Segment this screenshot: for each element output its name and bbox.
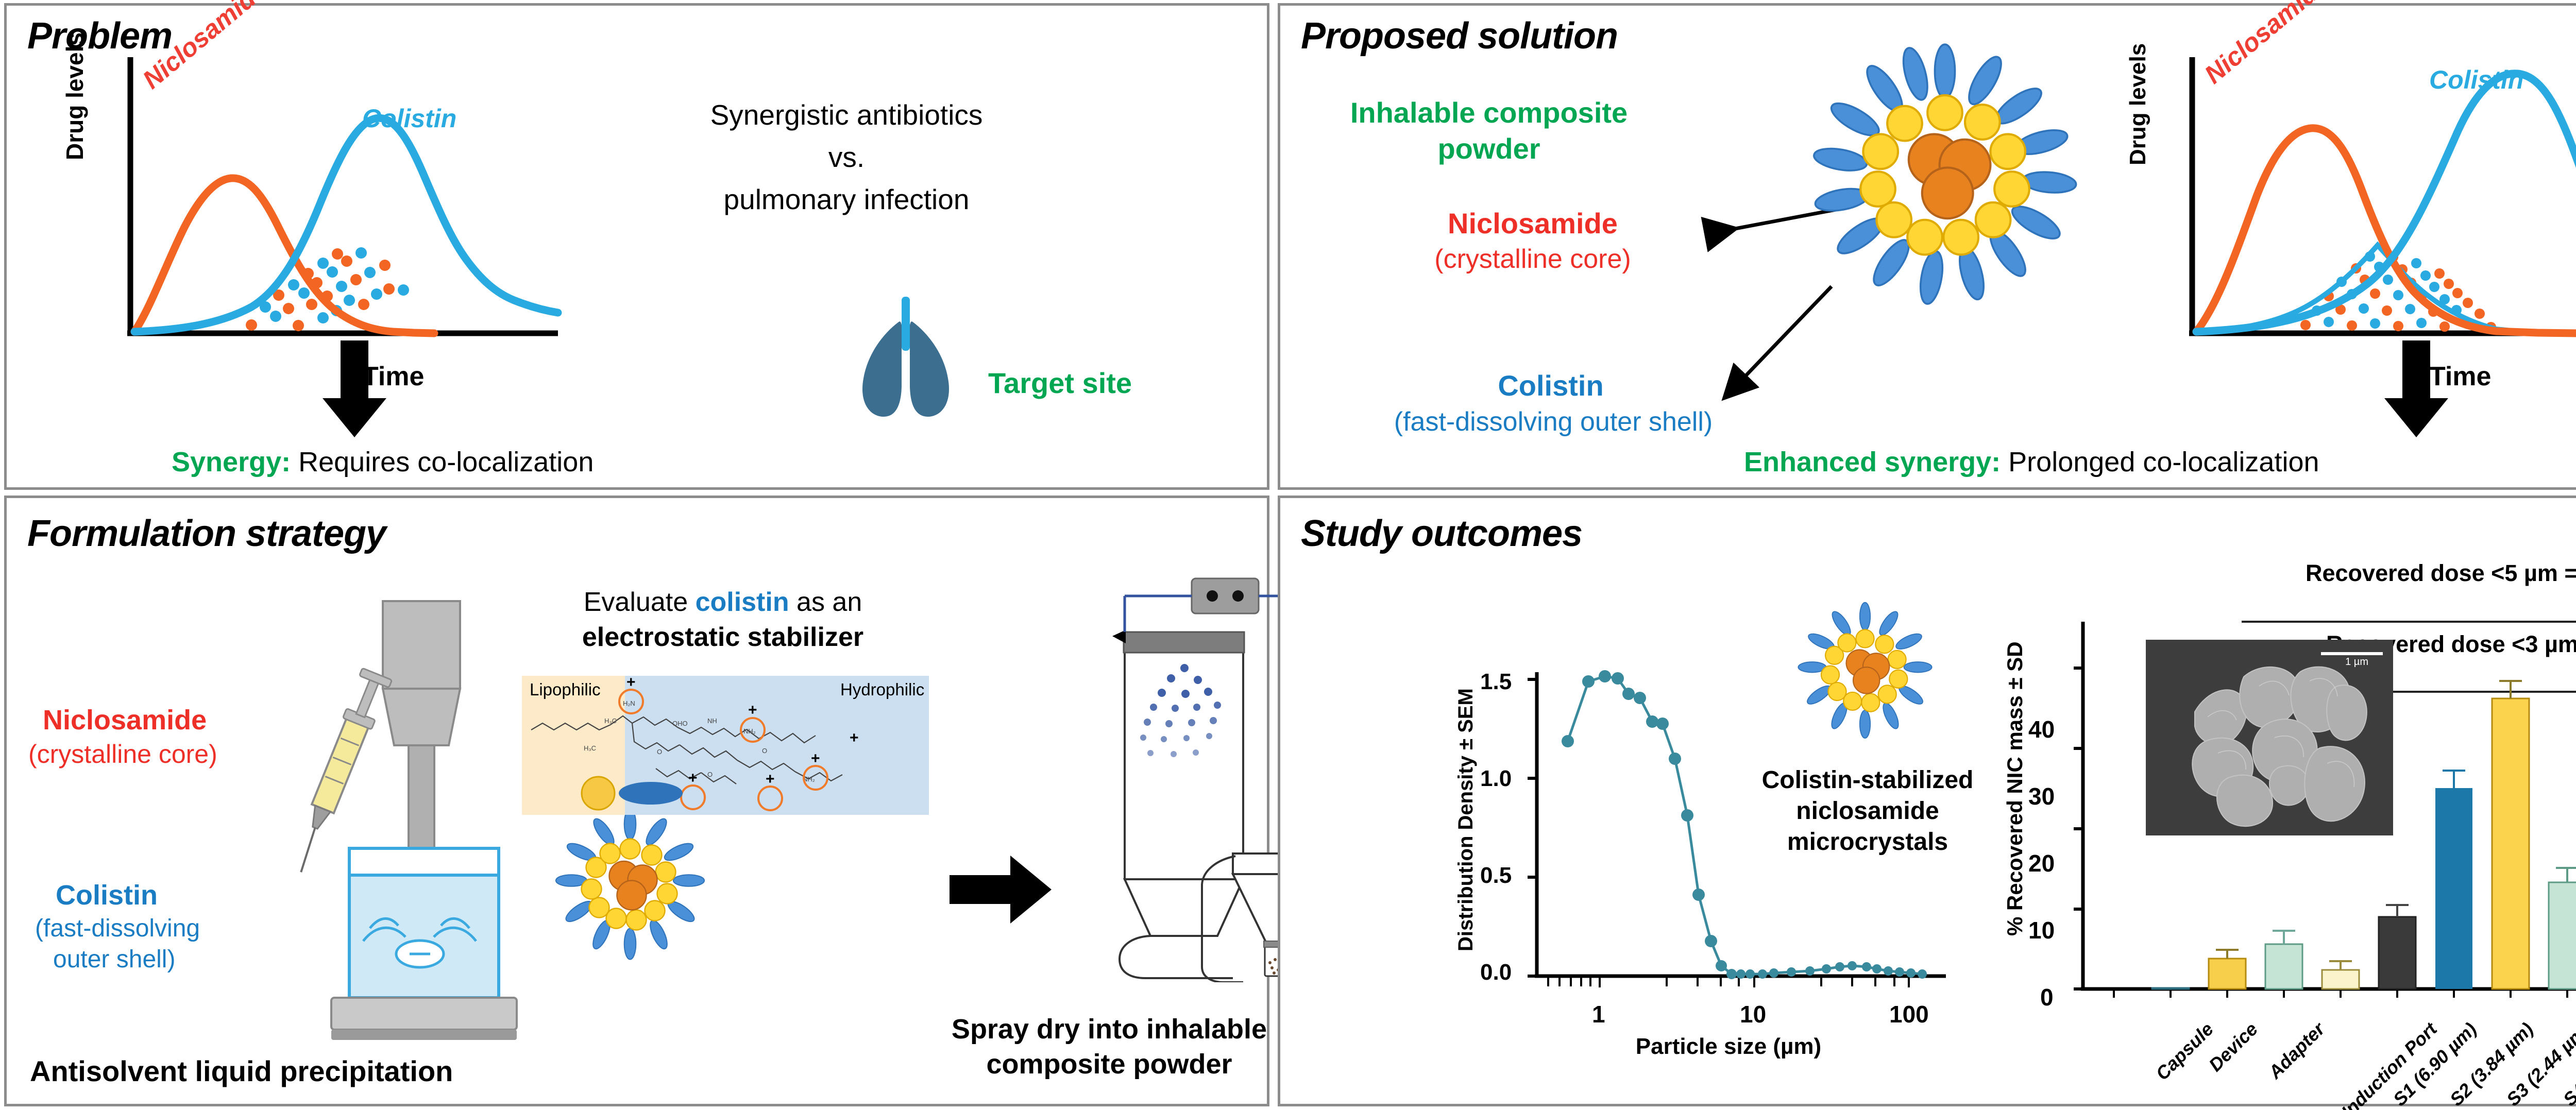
solution-niclosamide-sublabel: (crystalline core) <box>1373 244 1692 275</box>
psd-annotation-line2: niclosamide <box>1723 797 2012 825</box>
bar-ytick-1: 10 <box>2028 916 2055 944</box>
psd-ytick-3: 1.5 <box>1480 669 1512 695</box>
formulation-colistin-sublabel-line2: outer shell) <box>53 945 175 974</box>
solution-curve-label-colistin: Colistin <box>2429 65 2523 95</box>
psd-ytick-1: 0.5 <box>1480 863 1512 889</box>
svg-text:NH: NH <box>707 717 717 725</box>
svg-text:O: O <box>707 771 713 778</box>
problem-pk-chart <box>74 47 589 382</box>
psd-annotation-line1: Colistin-stabilized <box>1723 766 2012 794</box>
bar-ytick-4: 40 <box>2028 715 2055 743</box>
composite-particle-graphic <box>1811 42 2079 312</box>
bracket-label-5um: Recovered dose <5 µm = 75% <box>2306 560 2576 587</box>
formulation-evaluate-line2: electrostatic stabilizer <box>517 622 929 653</box>
svg-text:NH₂: NH₂ <box>743 727 756 735</box>
svg-text:+: + <box>850 729 859 746</box>
formulation-particle-graphic <box>553 807 707 964</box>
problem-center-text-line3: pulmonary infection <box>651 183 1042 216</box>
evaluate-suffix: as an <box>789 587 862 617</box>
solution-conclusion: Enhanced synergy: Prolonged co-localizat… <box>1744 446 2319 478</box>
panel-title-formulation: Formulation strategy <box>27 513 386 555</box>
problem-conclusion-rest: Requires co-localization <box>291 447 594 477</box>
svg-text:+: + <box>748 702 757 719</box>
panel-study-outcomes: Study outcomes Distribution Density ± SE… <box>1278 496 2576 1106</box>
panel-proposed-solution: Proposed solution Inhalable composite po… <box>1278 3 2576 490</box>
panel-problem: Problem Drug levels <box>4 3 1269 490</box>
solution-niclosamide-label: Niclosamide <box>1383 207 1682 240</box>
psd-xtick-2: 100 <box>1889 1000 1929 1028</box>
lungs-icon <box>846 294 965 425</box>
psd-xtick-1: 10 <box>1740 1000 1766 1028</box>
solution-conclusion-rest: Prolonged co-localization <box>2001 447 2319 477</box>
svg-text:+: + <box>626 676 636 691</box>
svg-text:OHO: OHO <box>672 720 688 727</box>
solution-composite-label-line2: powder <box>1293 132 1685 165</box>
svg-text:H₃C: H₃C <box>584 744 596 752</box>
bar-ytick-3: 30 <box>2028 782 2055 810</box>
formulation-colistin-label: Colistin <box>56 879 158 911</box>
psd-ytick-2: 1.0 <box>1480 766 1512 792</box>
panel-title-study: Study outcomes <box>1301 513 1582 555</box>
formulation-niclosamide-label: Niclosamide <box>43 704 207 736</box>
psd-particle-graphic <box>1795 601 1935 743</box>
problem-center-text-line1: Synergistic antibiotics <box>651 98 1042 131</box>
psd-xtick-0: 1 <box>1592 1000 1605 1028</box>
bar-xlabel-1: Device <box>2205 1018 2262 1076</box>
svg-text:+: + <box>766 771 775 788</box>
bar-xlabel-2: Adapter <box>2264 1018 2329 1083</box>
svg-text:+: + <box>811 750 820 767</box>
formulation-colistin-sublabel-line1: (fast-dissolving <box>35 914 200 943</box>
formulation-niclosamide-sublabel: (crystalline core) <box>28 739 217 769</box>
solution-pk-chart <box>2136 47 2576 382</box>
problem-center-text-line2: vs. <box>651 141 1042 174</box>
svg-text:+: + <box>688 770 698 787</box>
formulation-bottom-caption: Antisolvent liquid precipitation <box>30 1054 453 1088</box>
psd-y-axis-label: Distribution Density ± SEM <box>1454 688 1478 951</box>
formulation-right-arrow-icon <box>950 853 1053 926</box>
panel-formulation-strategy: Formulation strategy Niclosamide (crysta… <box>4 496 1269 1106</box>
solution-conclusion-strong: Enhanced synergy: <box>1744 447 2001 477</box>
svg-text:O: O <box>762 747 767 755</box>
panel-title-solution: Proposed solution <box>1301 15 1618 57</box>
svg-text:H₃C: H₃C <box>604 717 617 725</box>
graphical-abstract: Problem Drug levels <box>0 0 2576 1110</box>
psd-ytick-0: 0.0 <box>1480 960 1512 985</box>
psd-annotation-line3: microcrystals <box>1723 828 2012 856</box>
solution-composite-label-line1: Inhalable composite <box>1293 96 1685 129</box>
solution-colistin-label: Colistin <box>1417 369 1685 402</box>
colistin-molecule-diagram: Lipophilic Hydrophilic H₂N OHO NH NH₂ O <box>522 676 929 815</box>
spray-caption-line1: Spray dry into inhalable <box>950 1013 1269 1045</box>
evaluate-prefix: Evaluate <box>584 587 696 617</box>
target-site-label: Target site <box>988 366 1132 400</box>
spray-caption-line2: composite powder <box>950 1048 1269 1080</box>
bar-y-axis-label: % Recovered NIC mass ± SD <box>2003 641 2027 936</box>
antisolvent-apparatus-graphic <box>254 591 584 1054</box>
bar-ytick-0: 0 <box>2040 983 2054 1011</box>
svg-text:O: O <box>657 748 662 756</box>
bar-xlabel-0: Capsule <box>2151 1018 2218 1085</box>
solution-down-arrow-icon <box>2383 340 2450 441</box>
problem-curve-label-colistin: Colistin <box>362 104 456 133</box>
problem-conclusion: Synergy: Requires co-localization <box>172 446 594 478</box>
problem-conclusion-strong: Synergy: <box>172 447 291 477</box>
psd-x-axis-label: Particle size (µm) <box>1548 1034 1909 1060</box>
bar-ytick-2: 20 <box>2028 849 2055 877</box>
svg-text:H₂N: H₂N <box>623 699 635 707</box>
evaluate-highlight: colistin <box>696 587 789 617</box>
bar-plot-area <box>2074 617 2576 998</box>
problem-down-arrow-icon <box>321 340 388 441</box>
formulation-evaluate-line1: Evaluate colistin as an <box>517 587 929 618</box>
ndi-bar-chart: % Recovered NIC mass ± SD 40 30 20 10 0 … <box>1996 555 2576 1075</box>
